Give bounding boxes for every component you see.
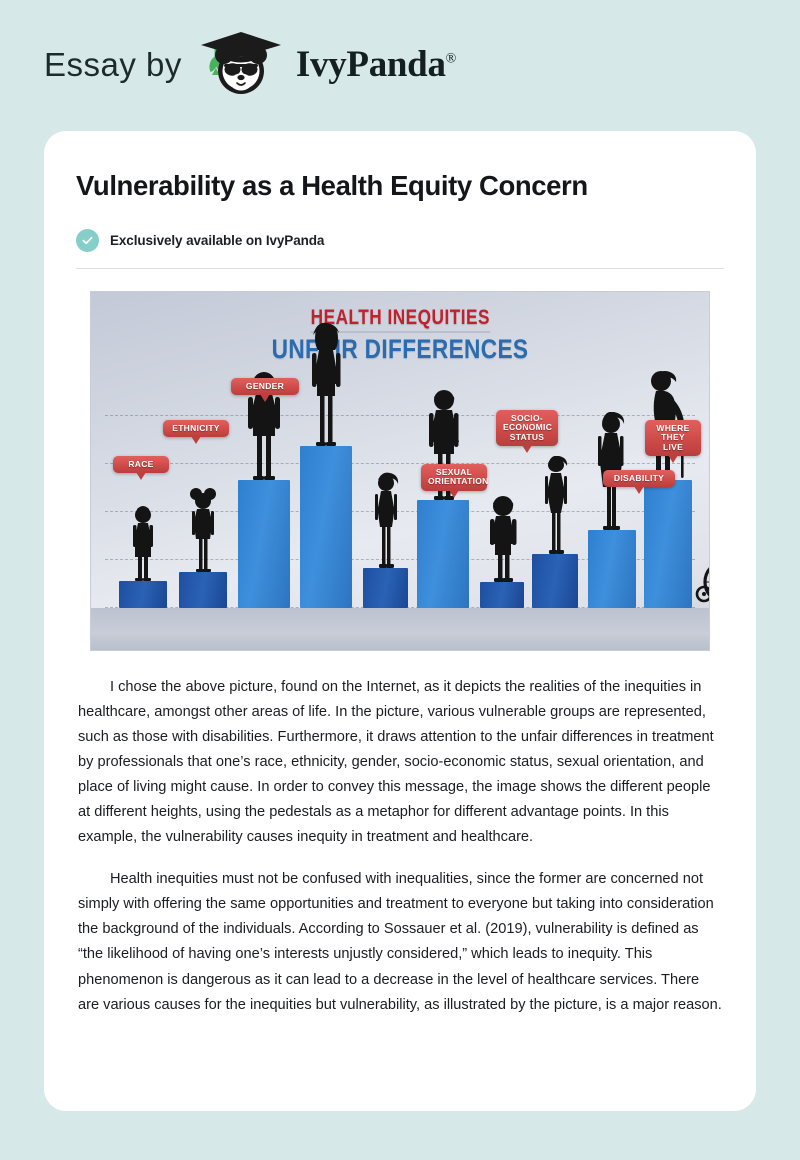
bar-person-9 [588,530,636,608]
panda-graduate-logo-icon [194,30,286,98]
check-circle-icon [76,229,99,252]
bubble-gender: GENDER [231,378,299,396]
bar-person-10 [644,480,692,608]
bar-person-5 [363,568,408,608]
header-divider [76,268,724,269]
figure-container: HEALTH INEQUITIES UNFAIR DIFFERENCES [74,291,726,651]
figure-silhouette-7 [484,494,522,582]
essay-body: I chose the above picture, found on the … [74,675,726,1018]
bar-person-3 [238,480,290,608]
bubble-ethnicity: ETHNICITY [163,420,229,438]
essay-by-label: Essay by [44,48,182,81]
bubble-sexual-orientation: SEXUAL ORIENTATION [421,464,487,491]
bubble-where-they-live: WHERE THEY LIVE [645,420,701,457]
bar-person-2 [179,572,227,608]
ivypanda-logo[interactable]: IvyPanda® [194,30,456,98]
paragraph-2: Health inequities must not be confused w… [78,867,722,1018]
page-title: Vulnerability as a Health Equity Concern [74,169,726,203]
infographic-heading: HEALTH INEQUITIES UNFAIR DIFFERENCES [91,306,709,365]
bar-person-7 [480,582,524,608]
figure-silhouette-2 [185,486,221,572]
infographic-heading-secondary: UNFAIR DIFFERENCES [140,334,659,365]
bubble-socio-economic-status: SOCIO- ECONOMIC STATUS [496,410,558,447]
bar-person-1 [119,581,167,608]
bar-person-6 [417,500,469,608]
figure-silhouette-wheelchair [695,516,710,608]
figure-silhouette-4 [304,322,348,446]
bubble-disability: DISABILITY [603,470,675,488]
bubble-race: RACE [113,456,169,474]
figure-silhouette-8 [539,456,573,554]
exclusive-availability-label: Exclusively available on IvyPanda [110,233,324,248]
site-header: Essay by [0,0,800,128]
document-card: Vulnerability as a Health Equity Concern… [44,131,756,1111]
health-inequities-infographic: HEALTH INEQUITIES UNFAIR DIFFERENCES [90,291,710,651]
bar-person-8 [532,554,578,608]
figure-silhouette-1 [125,505,161,581]
paragraph-1: I chose the above picture, found on the … [78,675,722,851]
floor [91,608,709,650]
ivypanda-wordmark: IvyPanda® [296,46,456,83]
exclusive-availability-badge: Exclusively available on IvyPanda [74,229,726,252]
figure-silhouette-5 [369,472,403,568]
bar-person-4 [300,446,352,608]
